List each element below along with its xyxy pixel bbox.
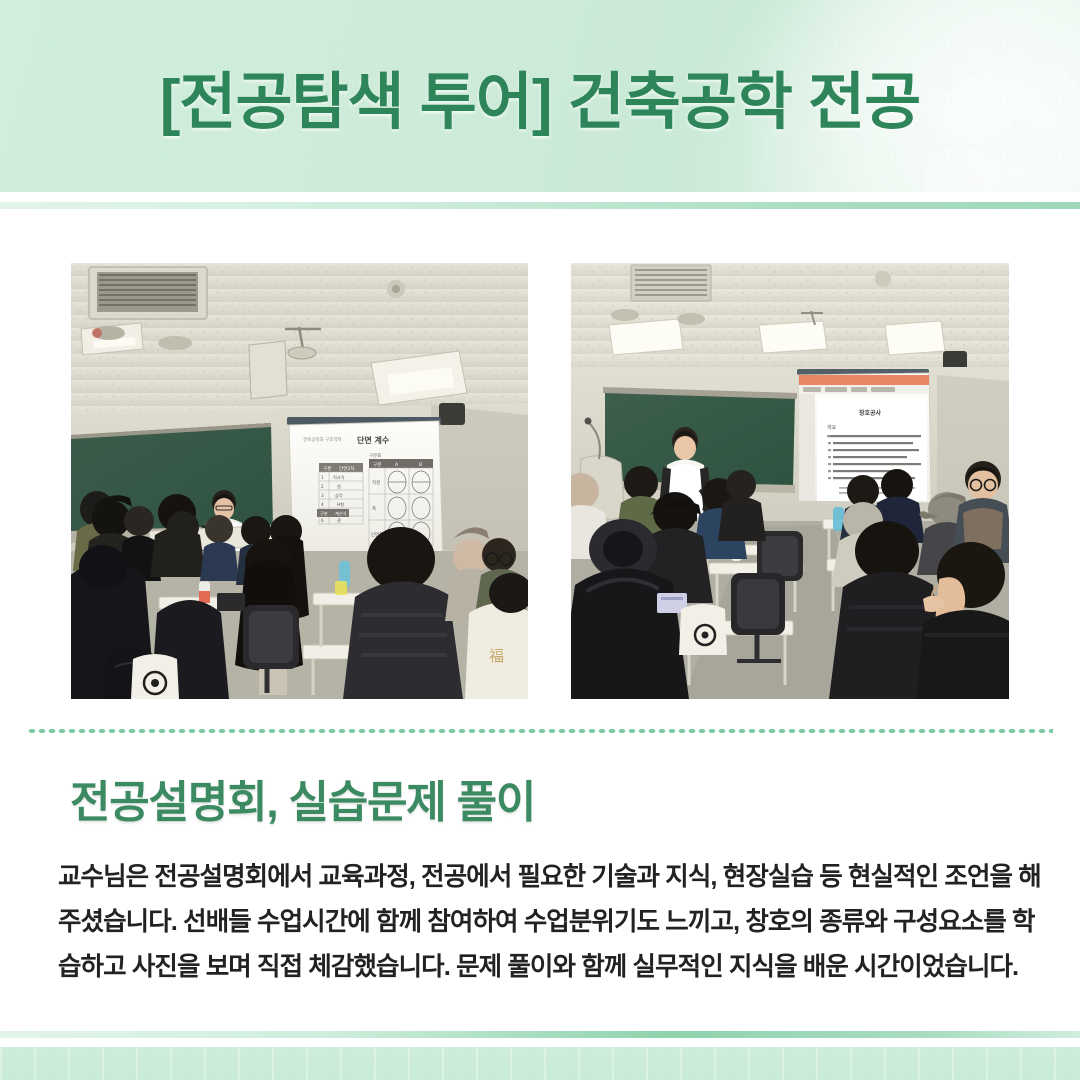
svg-text:건축공학과 구조역학: 건축공학과 구조역학	[303, 436, 342, 443]
svg-text:직사각: 직사각	[333, 474, 345, 481]
svg-text:구분: 구분	[323, 466, 331, 472]
body-line-2: 주셨습니다. 선배들 수업시간에 함께 참여하여 수업분위기도 느끼고, 창호의…	[58, 900, 1040, 945]
dotted-divider	[27, 728, 1053, 734]
body-line-1: 교수님은 전공설명회에서 교육과정, 전공에서 필요한 기술과 지식, 현장실습…	[58, 855, 1040, 900]
svg-text:관: 관	[337, 517, 341, 523]
svg-text:B: B	[419, 462, 422, 468]
photo-gallery: 건축공학과 구조역학 단면 계수 구분표 구분 단면2차 1직사각 2원 3삼각	[0, 263, 1080, 699]
svg-text:2: 2	[321, 484, 324, 489]
header-banner: [전공탐색 투어] 건축공학 전공	[0, 0, 1080, 192]
svg-text:3: 3	[321, 493, 324, 498]
svg-text:구분: 구분	[373, 462, 381, 468]
svg-text:H형: H형	[337, 501, 344, 507]
svg-text:福: 福	[489, 647, 504, 665]
svg-text:삼각: 삼각	[335, 492, 343, 499]
photo-classroom-lecture-left: 건축공학과 구조역학 단면 계수 구분표 구분 단면2차 1직사각 2원 3삼각	[71, 263, 528, 699]
svg-text:원: 원	[337, 483, 341, 489]
svg-text:4: 4	[321, 502, 324, 507]
svg-text:구분표: 구분표	[369, 453, 381, 459]
svg-text:6: 6	[321, 518, 324, 523]
svg-text:직경: 직경	[372, 479, 380, 486]
svg-text:단면 계수: 단면 계수	[357, 435, 390, 445]
svg-text:계산식: 계산식	[335, 510, 347, 517]
svg-text:1: 1	[321, 475, 324, 480]
svg-text:개요: 개요	[827, 424, 837, 431]
divider-bar-bottom	[0, 1031, 1080, 1038]
footer-band	[0, 1047, 1080, 1080]
svg-text:창호공사: 창호공사	[859, 409, 882, 417]
body-paragraph: 교수님은 전공설명회에서 교육과정, 전공에서 필요한 기술과 지식, 현장실습…	[58, 855, 1040, 990]
svg-text:단면2차: 단면2차	[339, 465, 355, 472]
photo-classroom-lecture-right: 창호공사 개요	[571, 263, 1009, 699]
body-line-3: 습하고 사진을 보며 직접 체감했습니다. 문제 풀이와 함께 실무적인 지식을…	[58, 945, 1040, 990]
section-subheading: 전공설명회, 실습문제 풀이	[70, 766, 1010, 830]
svg-text:폭: 폭	[372, 506, 376, 512]
page-title: [전공탐색 투어] 건축공학 전공	[0, 0, 1080, 192]
divider-bar-top	[0, 202, 1080, 209]
